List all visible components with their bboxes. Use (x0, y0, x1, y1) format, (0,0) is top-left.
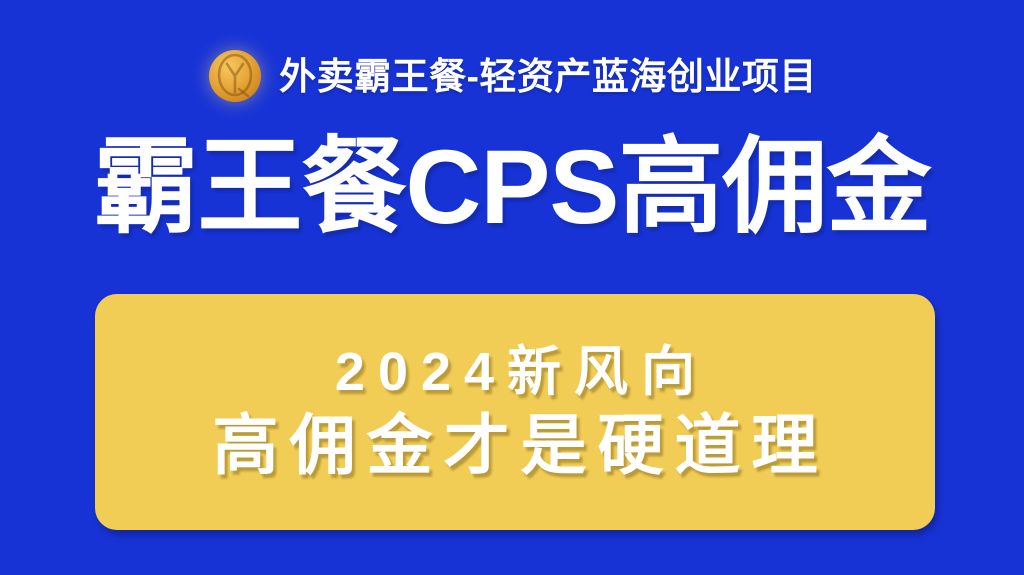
poster-subtitle: 外卖霸王餐-轻资产蓝海创业项目 (279, 58, 817, 95)
poster-hero-title: 霸王餐CPS高佣金 (0, 133, 1024, 243)
poster-header: 外卖霸王餐-轻资产蓝海创业项目 (0, 44, 1024, 108)
promo-poster: 外卖霸王餐-轻资产蓝海创业项目 霸王餐CPS高佣金 2024新风向 高佣金才是硬… (0, 0, 1024, 575)
brand-monogram-qy-icon (207, 48, 263, 104)
highlight-panel: 2024新风向 高佣金才是硬道理 (95, 294, 935, 530)
highlight-line-1: 2024新风向 (322, 345, 708, 400)
highlight-line-2: 高佣金才是硬道理 (202, 412, 829, 479)
